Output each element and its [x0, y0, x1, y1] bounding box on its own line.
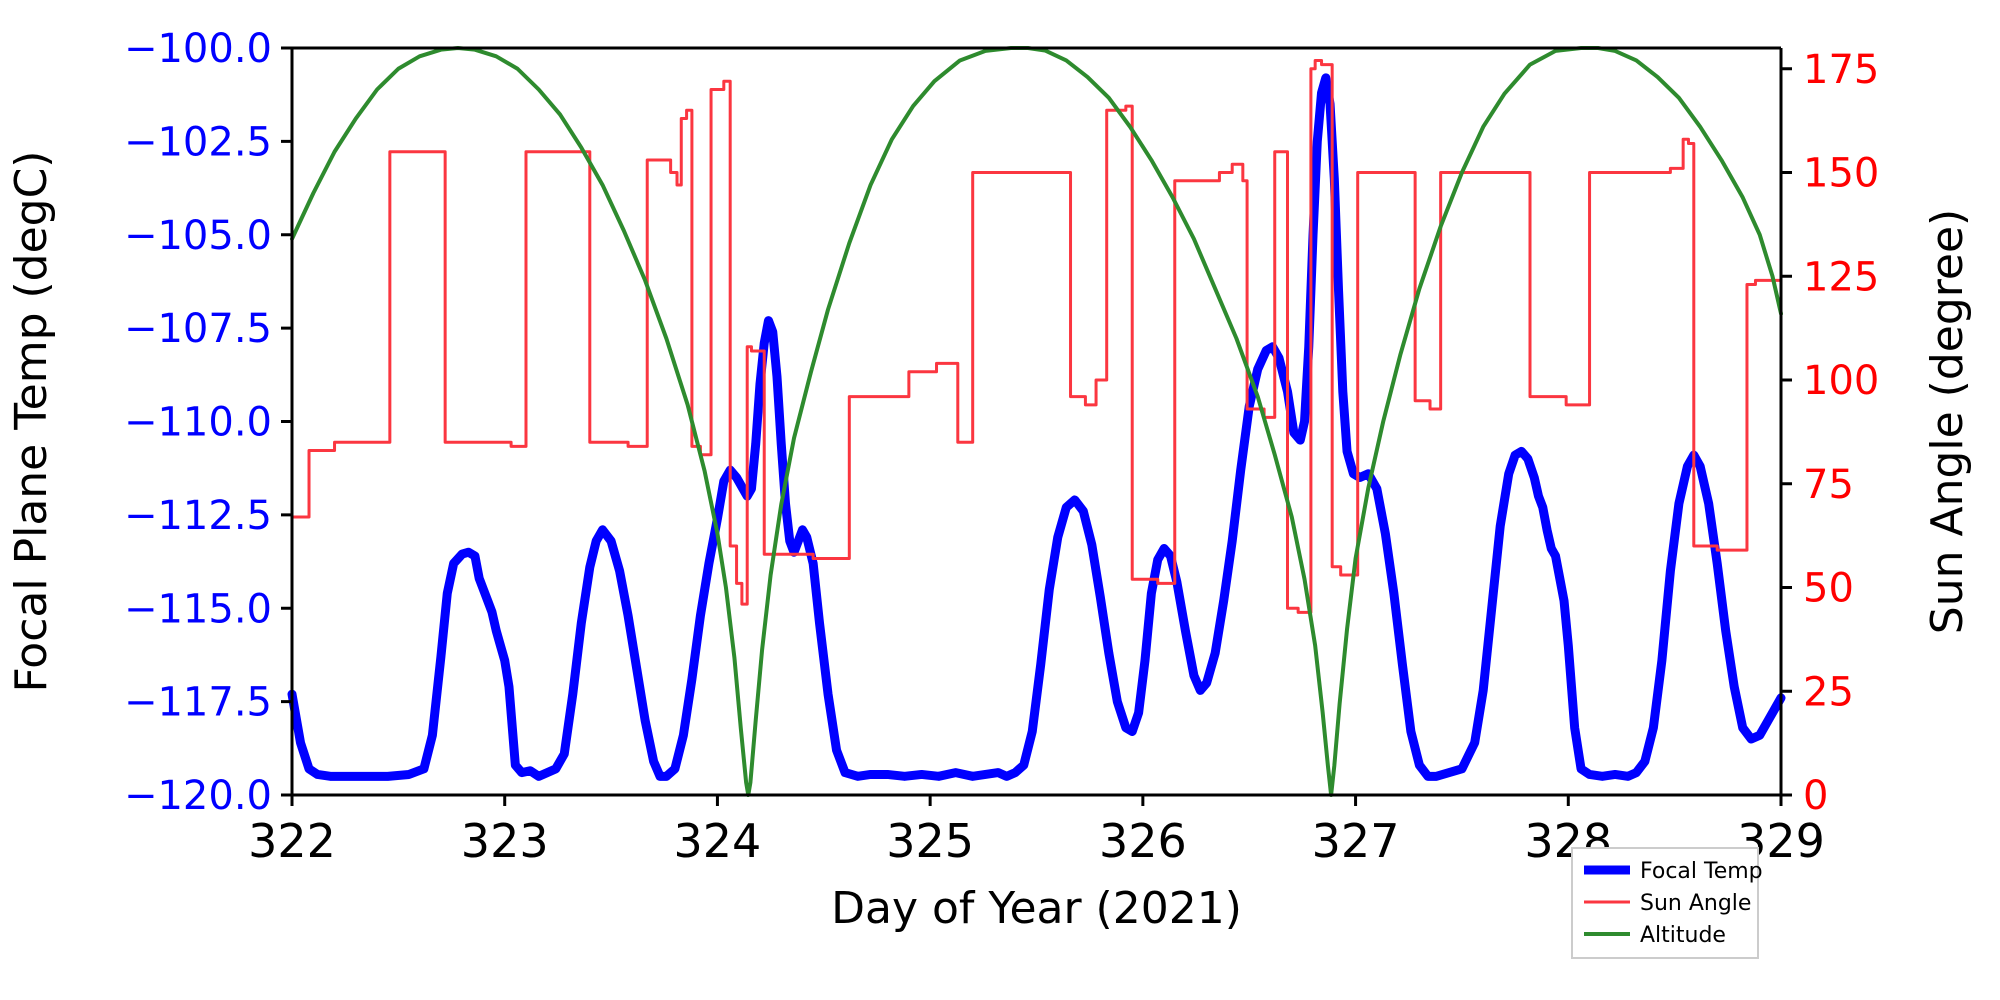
ytick-label-left: −107.5 [124, 306, 272, 352]
legend: Focal TempSun AngleAltitude [1572, 848, 1763, 958]
ytick-label-left: −120.0 [124, 773, 272, 819]
ytick-label-left: −102.5 [124, 119, 272, 165]
xtick-label: 324 [674, 814, 762, 868]
chart-figure: −120.0−117.5−115.0−112.5−110.0−107.5−105… [0, 0, 2000, 1000]
ytick-label-left: −105.0 [124, 213, 272, 259]
ytick-label-right: 175 [1803, 47, 1879, 93]
y2-axis-title: Sun Angle (degree) [1922, 209, 1973, 634]
legend-label-altitude: Altitude [1640, 923, 1726, 948]
ytick-label-right: 50 [1803, 566, 1854, 612]
legend-label-focal-temp: Focal Temp [1640, 859, 1763, 884]
ytick-label-right: 150 [1803, 151, 1879, 197]
ytick-label-left: −100.0 [124, 26, 272, 72]
ytick-label-left: −110.0 [124, 400, 272, 446]
xtick-label: 326 [1099, 814, 1187, 868]
legend-label-sun-angle: Sun Angle [1640, 891, 1751, 916]
ytick-label-left: −115.0 [124, 586, 272, 632]
xtick-label: 327 [1312, 814, 1400, 868]
y-axis-title: Focal Plane Temp (degC) [6, 151, 57, 693]
ytick-label-right: 75 [1803, 462, 1854, 508]
ytick-label-right: 0 [1803, 773, 1828, 819]
chart-canvas: −120.0−117.5−115.0−112.5−110.0−107.5−105… [0, 0, 2000, 1000]
xtick-label: 325 [886, 814, 974, 868]
ytick-label-right: 25 [1803, 669, 1854, 715]
ytick-label-left: −117.5 [124, 680, 272, 726]
x-axis-title: Day of Year (2021) [831, 883, 1242, 934]
ytick-label-right: 125 [1803, 254, 1879, 300]
ytick-label-right: 100 [1803, 358, 1879, 404]
ytick-label-left: −112.5 [124, 493, 272, 539]
xtick-label: 322 [248, 814, 336, 868]
xtick-label: 323 [461, 814, 549, 868]
